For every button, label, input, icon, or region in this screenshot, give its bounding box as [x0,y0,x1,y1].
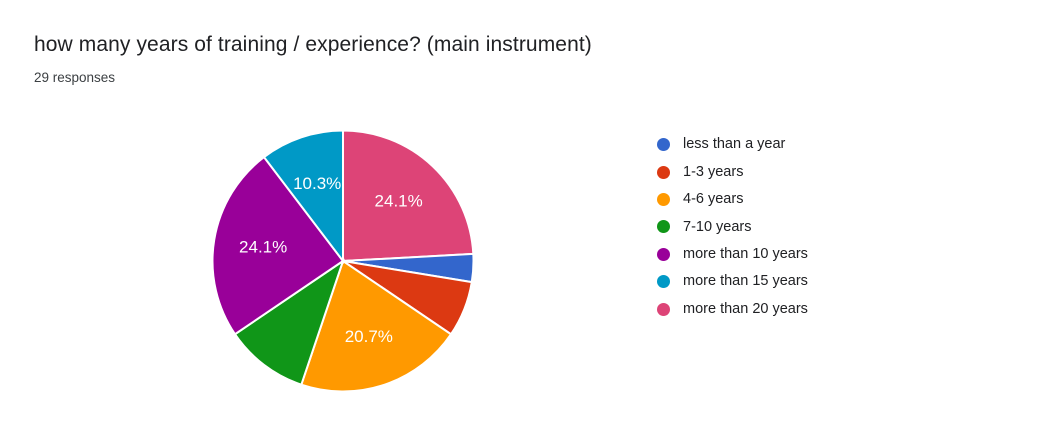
page-title: how many years of training / experience?… [34,33,592,57]
legend-item-label: less than a year [683,137,785,152]
legend-item-label: more than 15 years [683,274,808,289]
legend-item-label: 7-10 years [683,220,752,235]
legend-color-swatch-icon [657,248,670,261]
legend-item[interactable]: less than a year [652,131,922,158]
pie-slice-group [213,131,474,392]
legend-color-swatch-icon [657,193,670,206]
pie-chart-card: how many years of training / experience?… [0,0,1046,440]
legend-item[interactable]: more than 20 years [652,295,922,322]
legend-item[interactable]: more than 10 years [652,241,922,268]
legend-item[interactable]: 4-6 years [652,186,922,213]
legend-color-swatch-icon [657,220,670,233]
chart-legend: less than a year1-3 years4-6 years7-10 y… [652,131,922,323]
legend-item-label: more than 10 years [683,247,808,262]
pie-chart-svg: 24.1%20.7%24.1%10.3% [212,130,474,392]
legend-item-label: 4-6 years [683,192,743,207]
pie-slice-percent-label: 20.7% [345,327,393,346]
legend-color-swatch-icon [657,138,670,151]
pie-slice-percent-label: 24.1% [239,237,287,256]
legend-color-swatch-icon [657,275,670,288]
legend-item-label: 1-3 years [683,165,743,180]
legend-item[interactable]: 1-3 years [652,158,922,185]
pie-chart: 24.1%20.7%24.1%10.3% [212,130,474,392]
pie-slice-percent-label: 10.3% [293,174,341,193]
legend-item[interactable]: 7-10 years [652,213,922,240]
legend-item-label: more than 20 years [683,302,808,317]
response-count-label: 29 responses [34,70,115,85]
legend-item[interactable]: more than 15 years [652,268,922,295]
pie-slice-percent-label: 24.1% [375,192,423,211]
legend-color-swatch-icon [657,303,670,316]
legend-color-swatch-icon [657,166,670,179]
